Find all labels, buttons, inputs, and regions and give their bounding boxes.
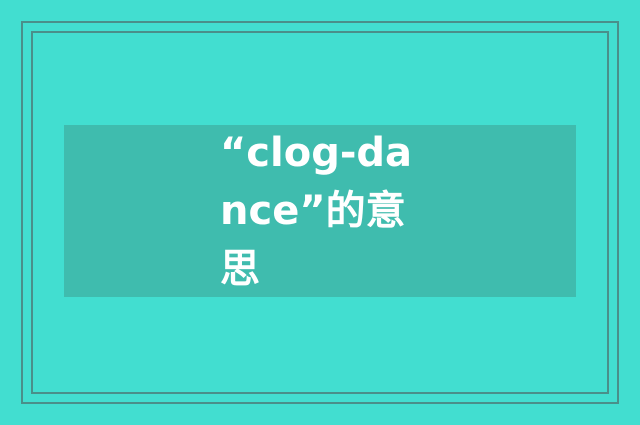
poster-canvas: “clog-dance”的意思 — [0, 0, 640, 425]
title-panel: “clog-dance”的意思 — [64, 125, 576, 297]
headline-text: “clog-dance”的意思 — [220, 124, 420, 298]
